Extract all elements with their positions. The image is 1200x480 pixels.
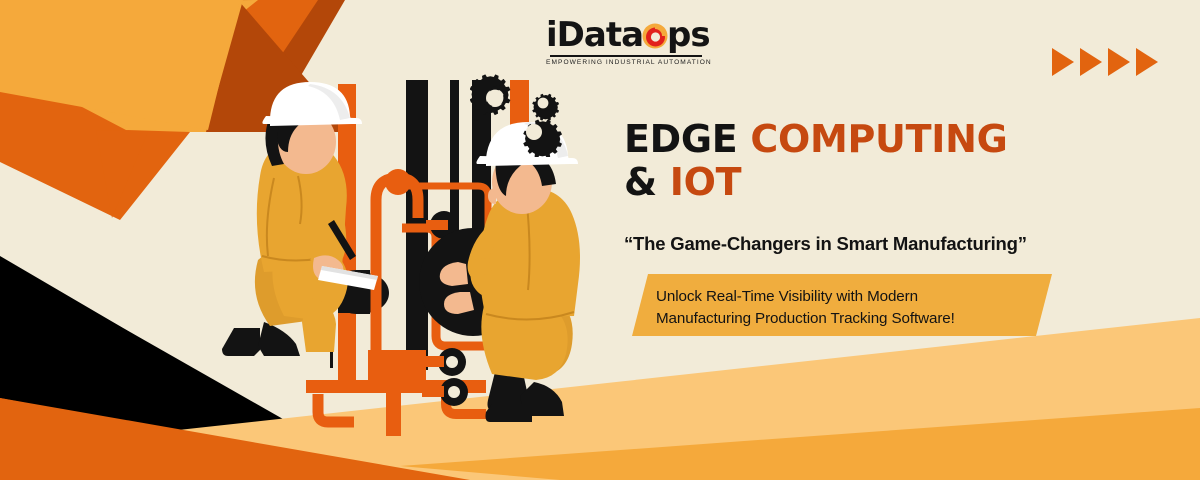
cta-text-block: Unlock Real-Time Visibility with Modern … bbox=[656, 286, 1016, 330]
triangle-right-icon bbox=[1136, 48, 1158, 76]
cta-line-1: Unlock Real-Time Visibility with Modern bbox=[656, 286, 1016, 308]
worker-left-boot bbox=[222, 328, 260, 356]
worker-right-boot-3 bbox=[486, 404, 533, 422]
logo-text-part2: ps bbox=[667, 15, 710, 55]
logo[interactable]: iData ps EMPOWERING INDUSTRIAL AUTOMATIO… bbox=[546, 18, 706, 66]
headline-computing: COMPUTING bbox=[750, 117, 1007, 161]
worker-crouching-inspecting bbox=[440, 122, 580, 422]
page-title: EDGE COMPUTING & IOT bbox=[624, 118, 1144, 203]
logo-divider bbox=[550, 55, 702, 57]
triangle-right-icon bbox=[1080, 48, 1102, 76]
arrow-decoration-group bbox=[1052, 48, 1158, 76]
pipe-joint-top bbox=[385, 169, 411, 195]
headline-edge: EDGE bbox=[624, 117, 737, 161]
promotional-banner: iData ps EMPOWERING INDUSTRIAL AUTOMATIO… bbox=[0, 0, 1200, 480]
subheadline: “The Game-Changers in Smart Manufacturin… bbox=[624, 233, 1144, 255]
logo-text-part1: iData bbox=[546, 15, 643, 55]
text-content: EDGE COMPUTING & IOT “The Game-Changers … bbox=[624, 118, 1144, 255]
cta-banner[interactable]: Unlock Real-Time Visibility with Modern … bbox=[632, 274, 1052, 336]
pipe-base-vertical bbox=[386, 380, 401, 436]
triangle-right-icon bbox=[1052, 48, 1074, 76]
logo-wordmark: iData ps bbox=[546, 18, 706, 52]
headline-iot: IOT bbox=[670, 160, 741, 204]
gears-wrench-icon bbox=[470, 72, 570, 157]
logo-tagline: EMPOWERING INDUSTRIAL AUTOMATION bbox=[546, 59, 706, 66]
valve-wheel-1-hole bbox=[446, 356, 458, 368]
cta-line-2: Manufacturing Production Tracking Softwa… bbox=[656, 308, 1016, 330]
logo-o-icon bbox=[642, 23, 668, 49]
valve-wheel-2-hole bbox=[448, 386, 460, 398]
headline-ampersand: & bbox=[624, 160, 657, 204]
pipe-base-elbow bbox=[318, 394, 354, 422]
triangle-right-icon bbox=[1108, 48, 1130, 76]
worker-left-boot-2 bbox=[258, 322, 300, 356]
